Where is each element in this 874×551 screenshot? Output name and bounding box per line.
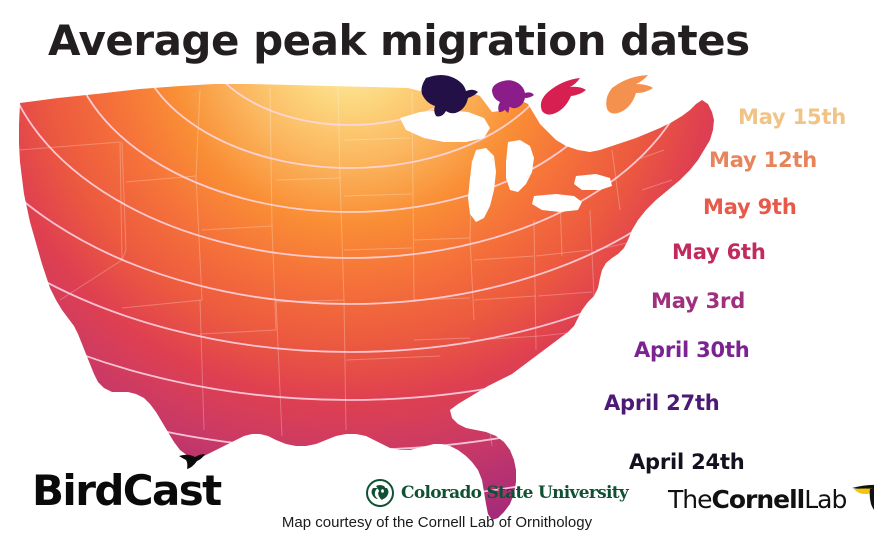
ram-head-icon bbox=[366, 479, 394, 507]
cornell-the-text: The bbox=[668, 485, 712, 514]
contour-label-april-24: April 24th bbox=[629, 452, 745, 473]
cornell-bold-text: Cornell bbox=[712, 485, 805, 514]
contour-label-april-27: April 27th bbox=[604, 393, 720, 414]
contour-label-may-15: May 15th bbox=[738, 107, 846, 128]
csu-wordmark: Colorado State University bbox=[401, 485, 628, 502]
migration-map-infographic: Average peak migration dates May 15th Ma… bbox=[0, 0, 874, 551]
contour-label-may-6: May 6th bbox=[672, 242, 766, 263]
birdcast-wordmark: BirdCast bbox=[32, 470, 221, 512]
contour-label-may-9: May 9th bbox=[703, 197, 797, 218]
contour-label-may-12: May 12th bbox=[709, 150, 817, 171]
birdcast-logo[interactable]: BirdCast bbox=[32, 462, 247, 514]
cornell-lab-text: Lab bbox=[804, 485, 846, 514]
map-caption: Map courtesy of the Cornell Lab of Ornit… bbox=[0, 515, 874, 530]
woodpecker-icon bbox=[850, 480, 874, 518]
cornell-lab-logo[interactable]: TheCornellLab bbox=[668, 480, 874, 518]
page-title: Average peak migration dates bbox=[48, 20, 750, 62]
colorado-state-university-logo[interactable]: Colorado State University bbox=[366, 479, 628, 507]
contour-label-may-3: May 3rd bbox=[651, 291, 745, 312]
cornell-lab-wordmark: TheCornellLab bbox=[668, 487, 846, 512]
contour-label-april-30: April 30th bbox=[634, 340, 750, 361]
